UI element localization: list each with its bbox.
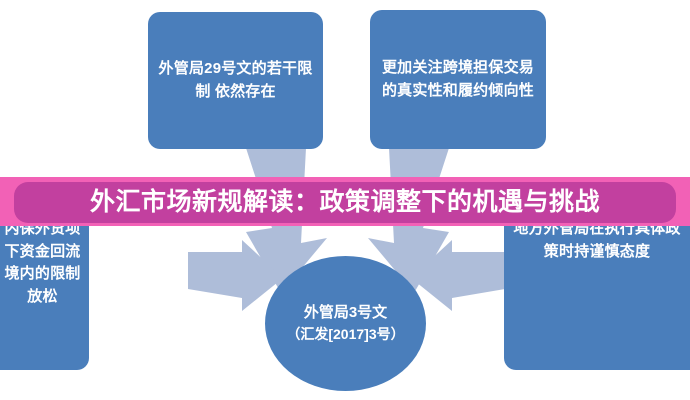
node-center-subtitle: （汇发[2017]3号） [286,324,404,344]
node-center[interactable]: 外管局3号文 （汇发[2017]3号） [265,256,426,391]
node-top-left[interactable]: 外管局29号文的若干限制 依然存在 [148,12,323,149]
banner-title: 外汇市场新规解读：政策调整下的机遇与挑战 [90,190,600,215]
node-left-label: 内保外贷项下资金回流境内的限制放松 [0,218,89,308]
diagram-canvas: 外管局29号文的若干限制 依然存在 更加关注跨境担保交易的真实性和履约倾向性 内… [0,0,690,400]
node-top-right[interactable]: 更加关注跨境担保交易的真实性和履约倾向性 [370,10,546,149]
node-top-left-label: 外管局29号文的若干限制 依然存在 [148,58,323,103]
banner-bar: 外汇市场新规解读：政策调整下的机遇与挑战 [14,182,676,223]
node-top-right-label: 更加关注跨境担保交易的真实性和履约倾向性 [370,57,546,102]
node-center-title: 外管局3号文 [304,302,387,324]
